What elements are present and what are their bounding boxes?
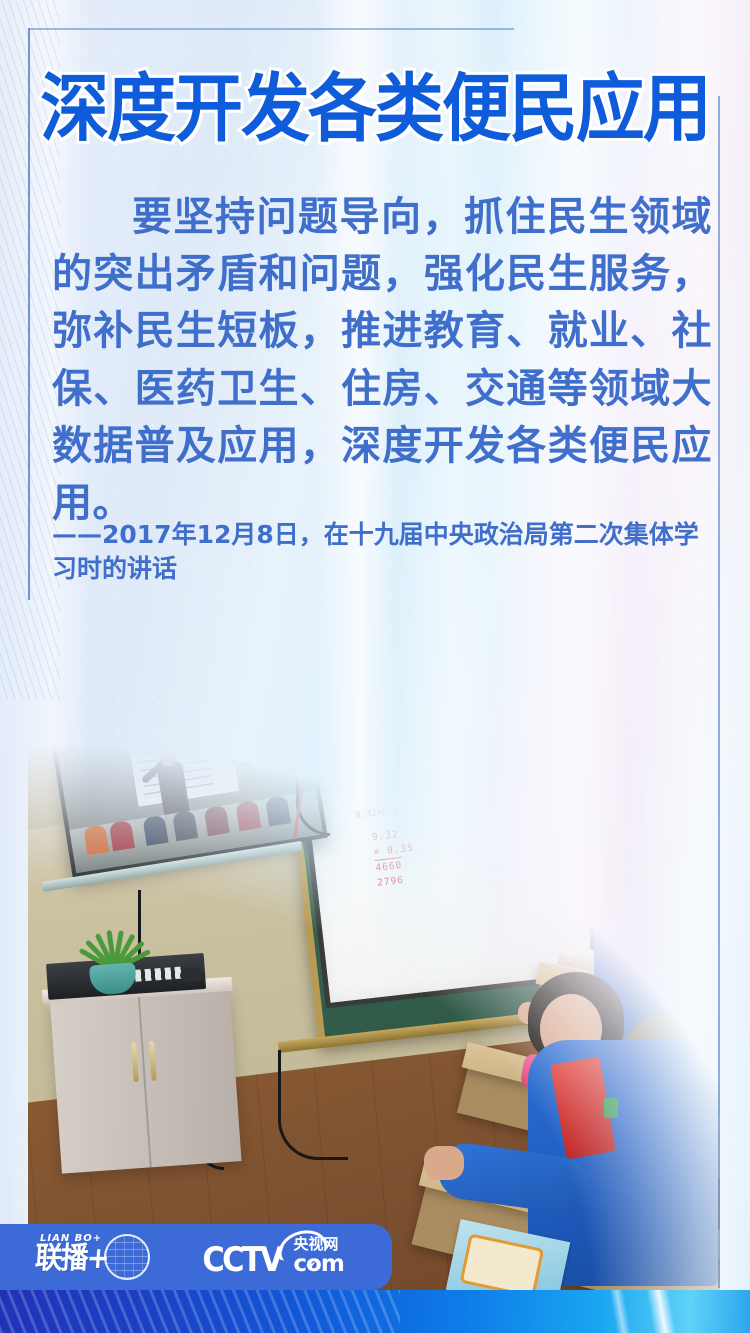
wall-socket (197, 659, 221, 680)
wall-cable (278, 1050, 348, 1160)
work-line-4: 2796 (377, 872, 419, 891)
band-light-flare (594, 1290, 732, 1333)
title-block: 深度开发各类便民应用 (0, 72, 750, 146)
bottom-gradient-band (0, 1290, 750, 1333)
cabinet-handle (131, 1042, 139, 1082)
whiteboard-heading-rest: 小数乘、除法的计算 (362, 771, 439, 790)
classroom-photo: 知识点一：小数乘、除法的计算 9.32×0.35= 9.32 × 0.35 46… (28, 590, 720, 1290)
quote-attribution: ——2017年12月8日，在十九届中央政治局第二次集体学习时的讲话 (52, 518, 702, 585)
equipment-cabinet (50, 989, 242, 1173)
globe-icon (104, 1234, 150, 1280)
cabinet-handle (149, 1041, 157, 1081)
cctv-wordmark: CCTV (202, 1243, 281, 1277)
student-hand (424, 1146, 464, 1180)
whiteboard-working: 9.32 × 0.35 4660 2796 (371, 827, 418, 892)
whiteboard-stamp (548, 759, 565, 775)
cabinet-door-seam (138, 996, 152, 1168)
uniform-badge (604, 1098, 618, 1118)
poster-root: 深度开发各类便民应用 要坚持问题导向，抓住民生领域的突出矛盾和问题，强化民生服务… (0, 0, 750, 1333)
whiteboard-heading: 知识点一：小数乘、除法的计算 (319, 769, 439, 794)
lianbo-logo-cn: 联播+ (34, 1244, 109, 1274)
quote-text: 要坚持问题导向，抓住民生领域的突出矛盾和问题，强化民生服务，弥补民生短板，推进教… (52, 188, 712, 531)
cctv-logo[interactable]: CCTV 央视网 com (198, 1237, 344, 1277)
whiteboard-equation: 9.32×0.35= (355, 805, 410, 821)
potted-plant-leaves (78, 912, 154, 970)
frame-line-top (28, 28, 514, 30)
lianbo-logo[interactable]: LIAN BO+ 联播+ (36, 1234, 144, 1280)
page-title: 深度开发各类便民应用 (40, 72, 710, 146)
logo-bar: LIAN BO+ 联播+ CCTV 央视网 com (0, 1224, 392, 1290)
